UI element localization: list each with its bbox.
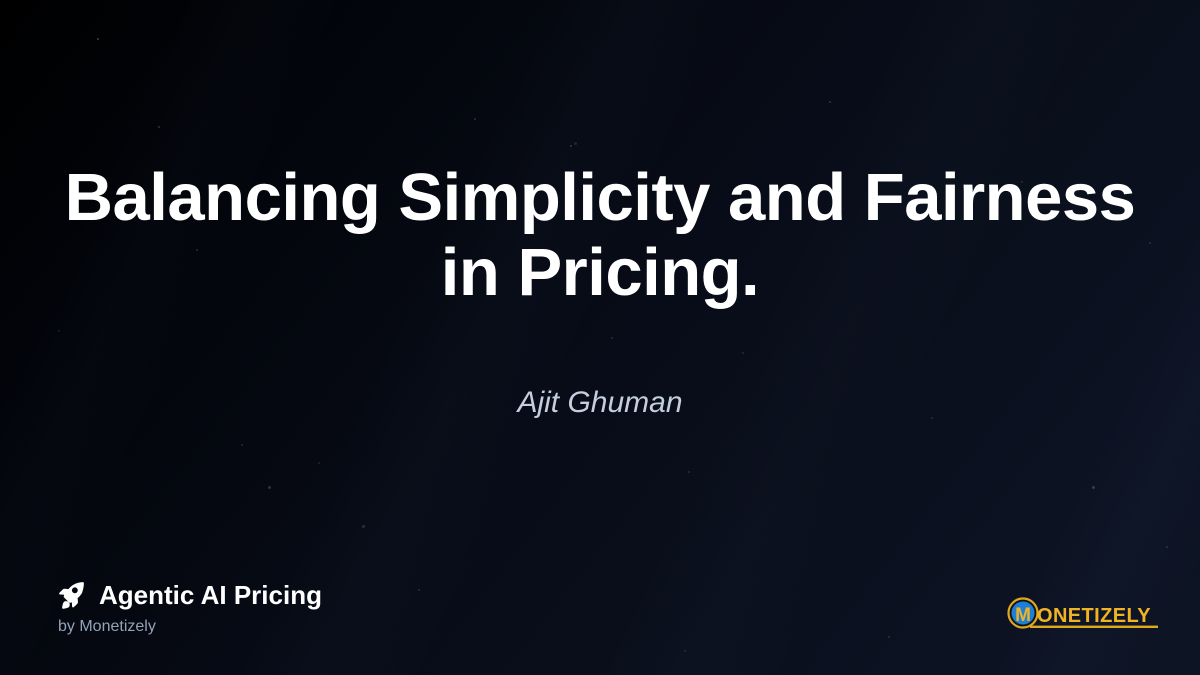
background-streaks	[0, 0, 1200, 675]
brand-name: Agentic AI Pricing	[99, 582, 322, 608]
monetizely-logo: M ONETIZELY	[1006, 597, 1158, 633]
page-title: Balancing Simplicity and Fairness in Pri…	[50, 160, 1150, 310]
logo-wordmark: ONETIZELY	[1037, 605, 1151, 627]
brand-block: Agentic AI Pricing by Monetizely	[58, 580, 322, 635]
presenter-name: Ajit Ghuman	[0, 386, 1200, 420]
logo-monogram: M	[1015, 605, 1031, 626]
brand-title-row: Agentic AI Pricing	[58, 580, 322, 610]
rocket-icon	[58, 580, 88, 610]
background-stars	[0, 0, 1200, 675]
presentation-slide: Balancing Simplicity and Fairness in Pri…	[0, 0, 1200, 675]
brand-byline: by Monetizely	[58, 619, 322, 635]
logo-underline	[1030, 626, 1158, 628]
